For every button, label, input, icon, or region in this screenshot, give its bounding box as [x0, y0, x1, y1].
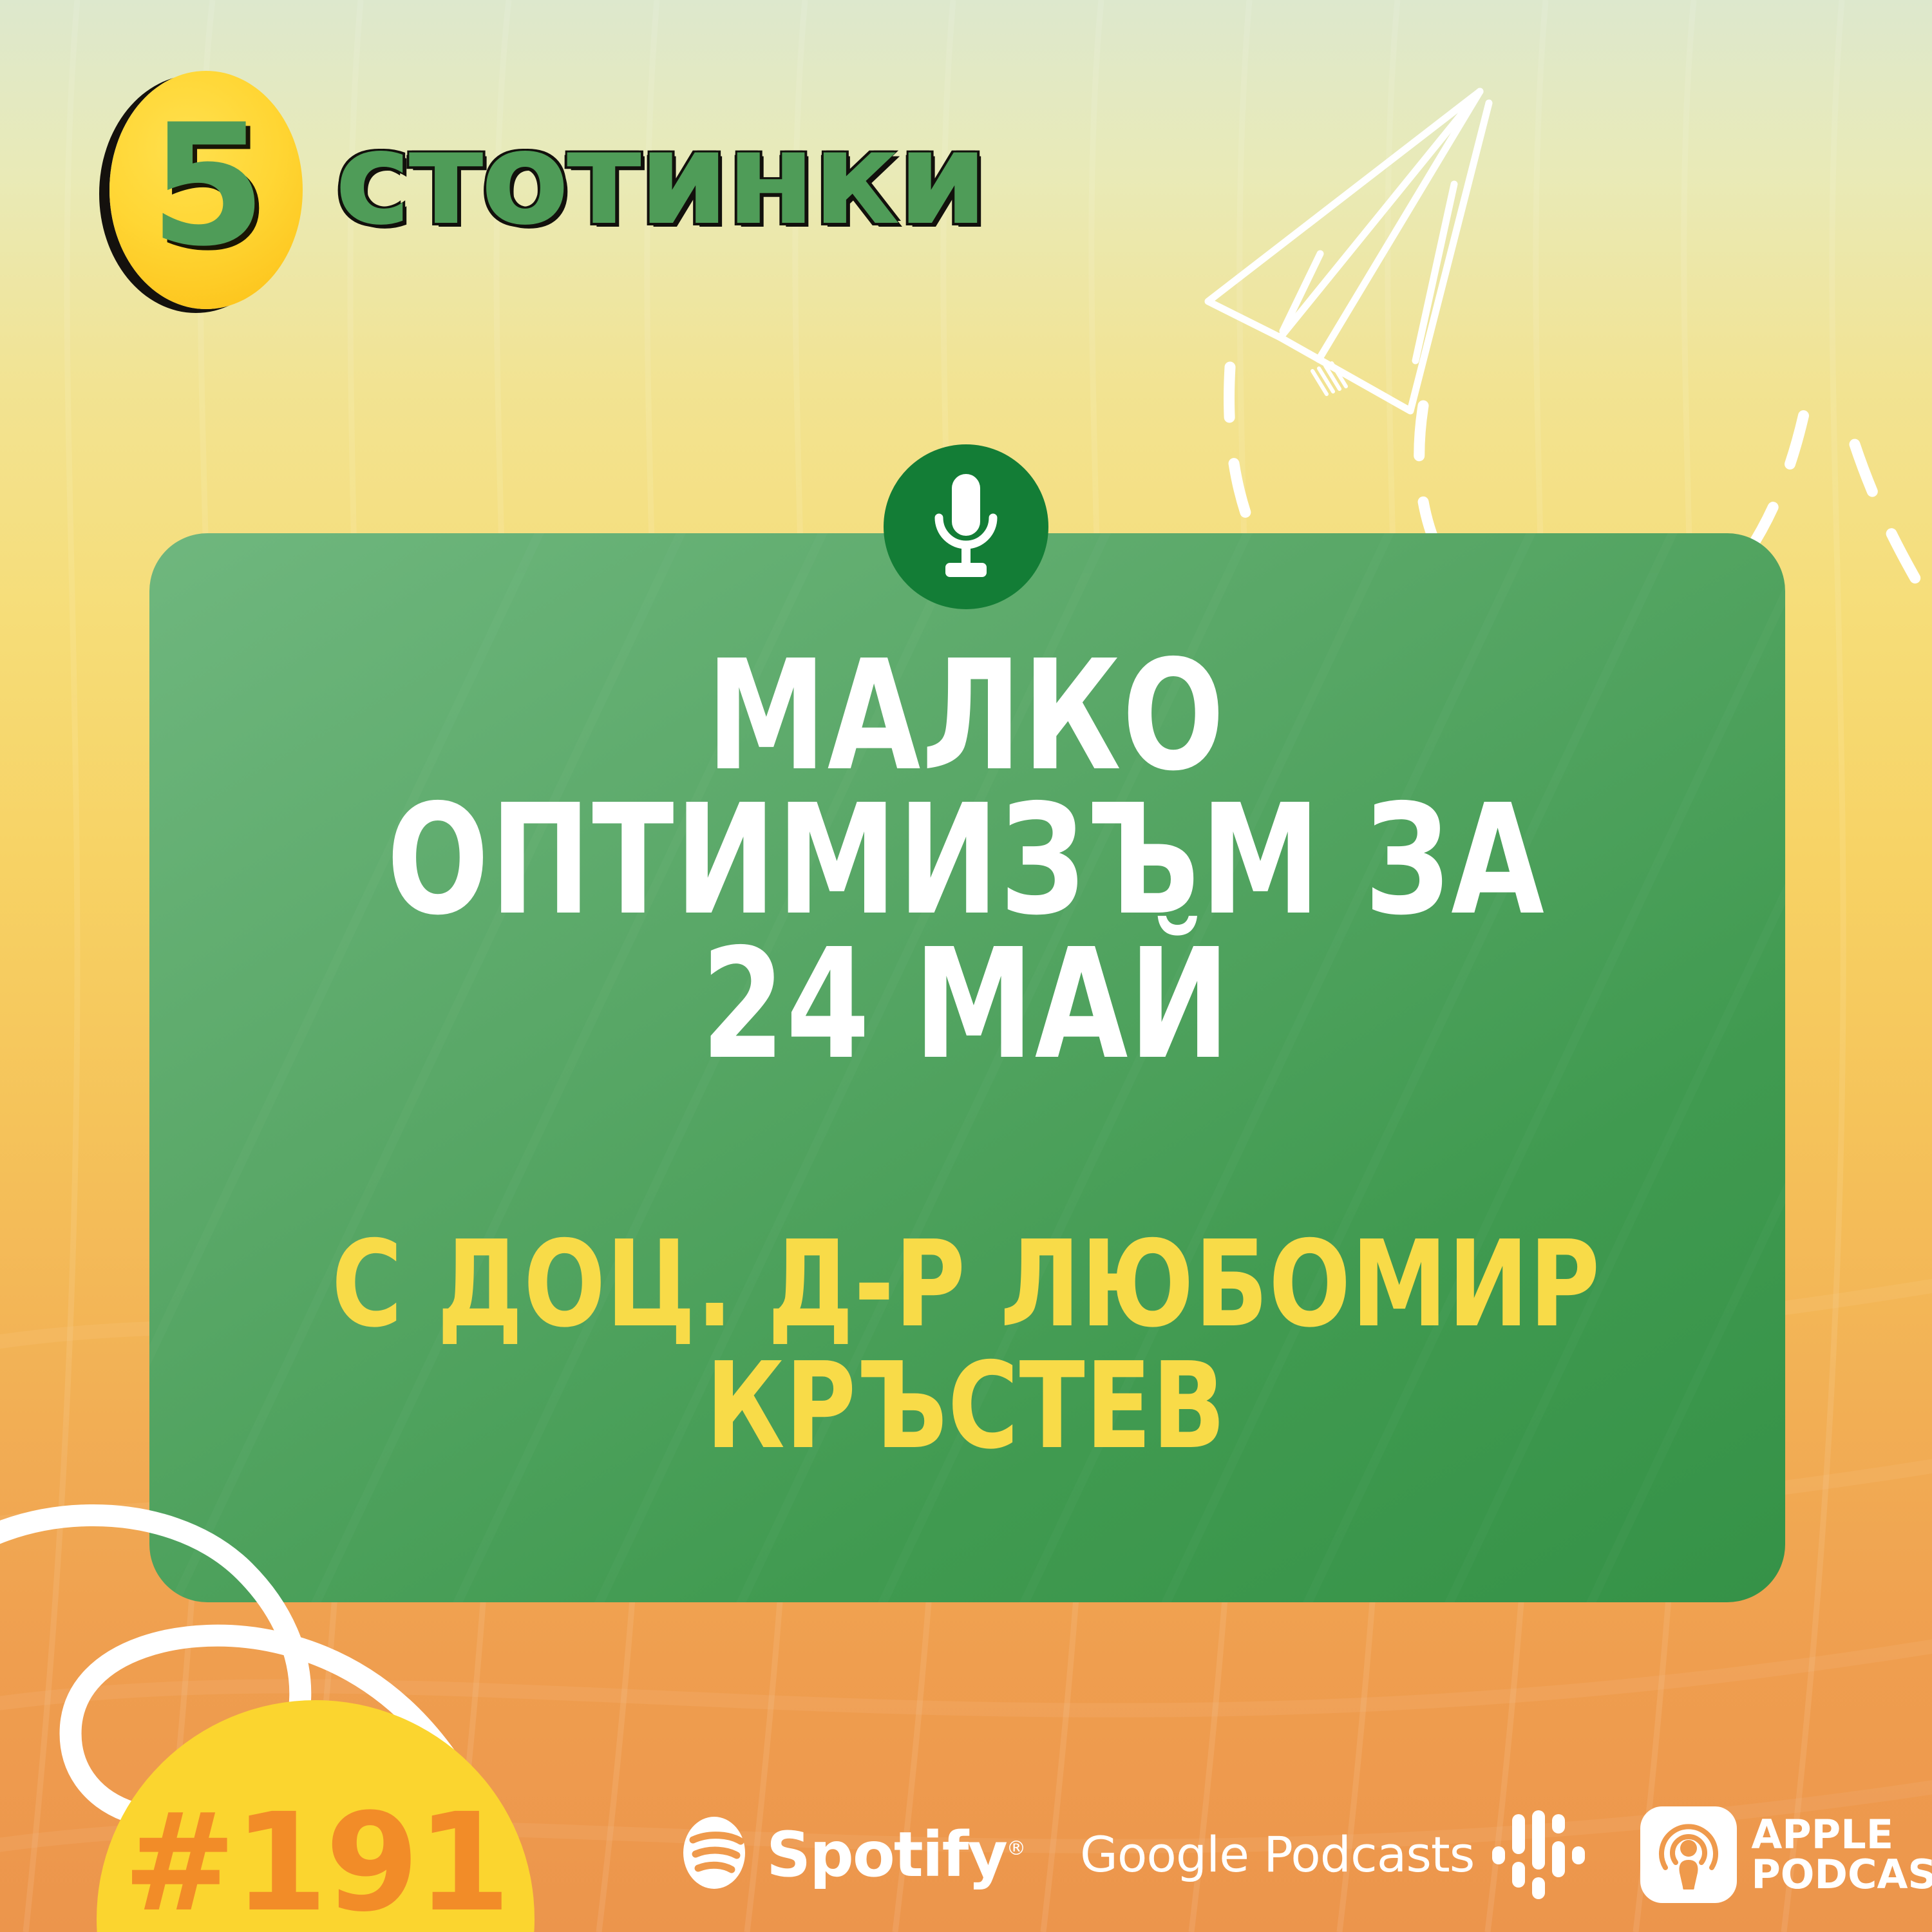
apple-podcasts-tile: [1640, 1806, 1737, 1903]
coin-number: 5: [150, 102, 263, 270]
apple-label-line2: Podcasts: [1751, 1851, 1932, 1898]
episode-number: #191: [123, 1795, 508, 1931]
spotify-label: Spotify®: [766, 1824, 1025, 1886]
google-podcasts-label: Google Podcasts: [1080, 1830, 1474, 1879]
microphone-badge: [884, 444, 1048, 609]
platform-apple-podcasts[interactable]: Apple Podcasts: [1640, 1806, 1932, 1903]
spotify-icon: [676, 1817, 752, 1893]
card-texture: [149, 533, 1785, 1602]
title-card: [149, 533, 1785, 1602]
platform-google-podcasts[interactable]: Google Podcasts: [1080, 1806, 1585, 1903]
apple-podcasts-icon: [1654, 1820, 1723, 1889]
brand-wordmark: стотинки: [335, 115, 985, 243]
microphone-icon: [927, 469, 1005, 585]
registered-mark: ®: [1007, 1837, 1025, 1860]
podcast-cover: 5 стотинки: [0, 0, 1932, 1932]
google-podcasts-icon: [1488, 1806, 1585, 1903]
coin-icon: 5: [109, 71, 303, 309]
platform-row: Spotify® Google Podcasts: [676, 1784, 1900, 1926]
apple-podcasts-label: Apple Podcasts: [1751, 1815, 1932, 1895]
brand-logo: 5 стотинки: [97, 64, 947, 270]
platform-spotify[interactable]: Spotify®: [676, 1817, 1025, 1893]
